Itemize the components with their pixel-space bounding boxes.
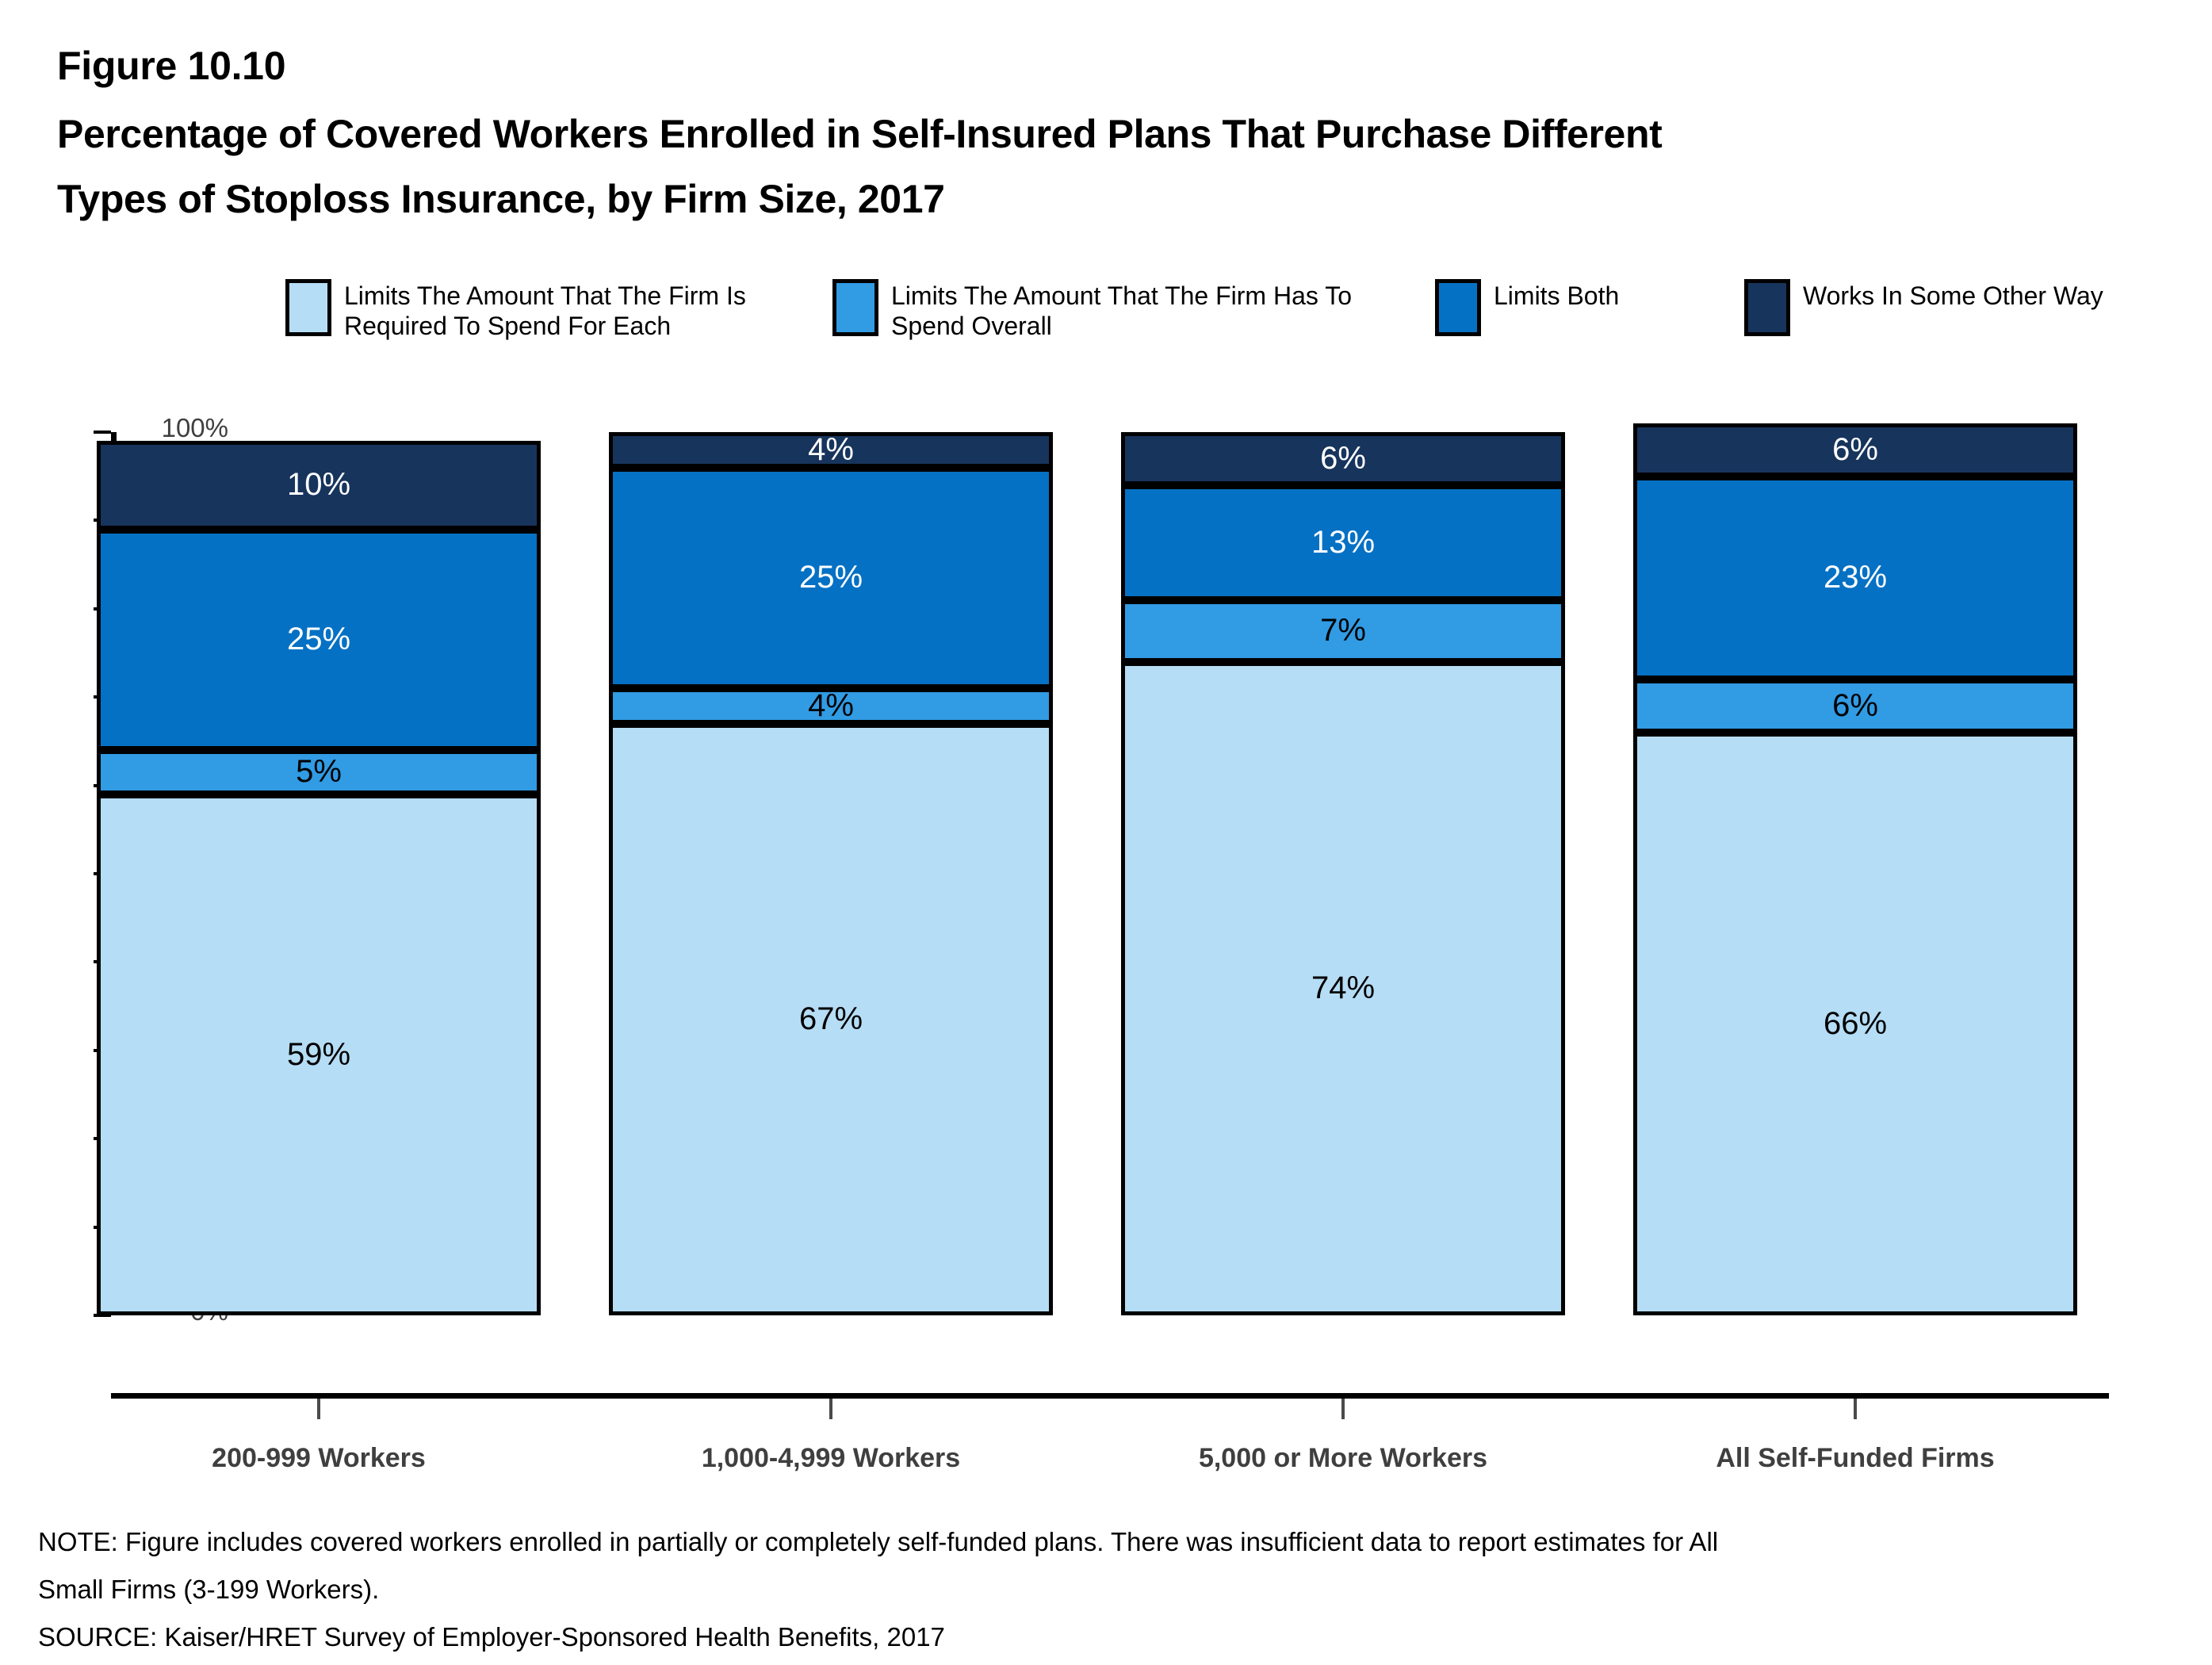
bar-column-4[interactable]: 66%6%23%6% <box>1633 432 2077 1315</box>
legend-label-4: Works In Some Other Way <box>1803 279 2103 311</box>
legend-item-2[interactable]: Limits The Amount That The Firm Has To S… <box>832 279 1352 341</box>
bar-segment-value-label: 5% <box>296 754 342 790</box>
legend-swatch-icon-2 <box>832 279 878 336</box>
legend-label-1: Limits The Amount That The Firm Is Requi… <box>344 279 746 341</box>
x-axis-category-label-1: 200-999 Workers <box>73 1443 564 1474</box>
legend-label-2: Limits The Amount That The Firm Has To S… <box>891 279 1352 341</box>
page-title-line-2: Types of Stoploss Insurance, by Firm Siz… <box>57 179 2118 219</box>
bar-segment[interactable]: 4% <box>609 432 1053 468</box>
x-tick-mark-4 <box>1854 1399 1857 1419</box>
x-axis-category-label-3: 5,000 or More Workers <box>1097 1443 1589 1474</box>
bar-segment[interactable]: 25% <box>609 468 1053 689</box>
bar-segment-value-label: 59% <box>287 1037 350 1073</box>
page-title-line-1: Percentage of Covered Workers Enrolled i… <box>57 114 2118 154</box>
bar-segment-value-label: 66% <box>1824 1006 1887 1042</box>
bar-segment-value-label: 6% <box>1320 441 1366 477</box>
bar-segment-value-label: 6% <box>1832 432 1878 468</box>
figure-number: Figure 10.10 <box>57 46 2118 86</box>
x-axis-line <box>111 1393 2109 1399</box>
bar-segment[interactable]: 5% <box>97 750 541 794</box>
bar-segment[interactable]: 66% <box>1633 733 2077 1315</box>
figure-header: Figure 10.10 Percentage of Covered Worke… <box>57 46 2118 244</box>
bar-segment-value-label: 67% <box>799 1001 863 1037</box>
legend-label-3: Limits Both <box>1494 279 1619 311</box>
bar-segment-value-label: 25% <box>799 560 863 595</box>
legend-item-1[interactable]: Limits The Amount That The Firm Is Requi… <box>285 279 746 341</box>
bar-segment[interactable]: 67% <box>609 724 1053 1315</box>
bar-segment[interactable]: 6% <box>1633 423 2077 477</box>
bar-segment[interactable]: 59% <box>97 794 541 1315</box>
plot-area: 0%10%20%30%40%50%60%70%80%90%100%59%5%25… <box>111 432 2109 1315</box>
bar-segment[interactable]: 10% <box>97 441 541 529</box>
source-line: SOURCE: Kaiser/HRET Survey of Employer-S… <box>38 1613 2179 1661</box>
bar-segment[interactable]: 6% <box>1633 679 2077 733</box>
bar-column-2[interactable]: 67%4%25%4% <box>609 432 1053 1315</box>
bar-segment[interactable]: 7% <box>1121 600 1565 662</box>
x-tick-mark-3 <box>1341 1399 1345 1419</box>
x-tick-mark-2 <box>829 1399 832 1419</box>
x-tick-mark-1 <box>317 1399 320 1419</box>
bar-segment-value-label: 4% <box>808 688 854 724</box>
note-line-1: NOTE: Figure includes covered workers en… <box>38 1518 2179 1566</box>
bar-column-1[interactable]: 59%5%25%10% <box>97 432 541 1315</box>
bar-segment[interactable]: 74% <box>1121 662 1565 1315</box>
x-axis-category-label-4: All Self-Funded Firms <box>1609 1443 2101 1474</box>
note-line-2: Small Firms (3-199 Workers). <box>38 1566 2179 1613</box>
bar-segment-value-label: 10% <box>287 467 350 503</box>
bar-segment-value-label: 7% <box>1320 613 1366 649</box>
legend-swatch-icon-1 <box>285 279 331 336</box>
bar-segment-value-label: 4% <box>808 432 854 468</box>
legend-swatch-icon-4 <box>1744 279 1790 336</box>
bar-segment[interactable]: 23% <box>1633 477 2077 679</box>
bar-column-3[interactable]: 74%7%13%6% <box>1121 432 1565 1315</box>
x-axis-category-label-2: 1,000-4,999 Workers <box>585 1443 1077 1474</box>
bar-segment[interactable]: 4% <box>609 688 1053 724</box>
bar-segment-value-label: 13% <box>1311 525 1375 561</box>
bar-segment-value-label: 6% <box>1832 688 1878 724</box>
bar-segment-value-label: 74% <box>1311 970 1375 1006</box>
chart-legend: Limits The Amount That The Firm Is Requi… <box>285 279 2109 352</box>
legend-item-3[interactable]: Limits Both <box>1435 279 1619 336</box>
figure-footer: NOTE: Figure includes covered workers en… <box>38 1518 2179 1661</box>
bar-segment-value-label: 25% <box>287 622 350 657</box>
bar-segment[interactable]: 6% <box>1121 432 1565 485</box>
bar-segment[interactable]: 25% <box>97 530 541 751</box>
bar-segment-value-label: 23% <box>1824 560 1887 595</box>
legend-item-4[interactable]: Works In Some Other Way <box>1744 279 2103 336</box>
legend-swatch-icon-3 <box>1435 279 1481 336</box>
bar-segment[interactable]: 13% <box>1121 485 1565 600</box>
